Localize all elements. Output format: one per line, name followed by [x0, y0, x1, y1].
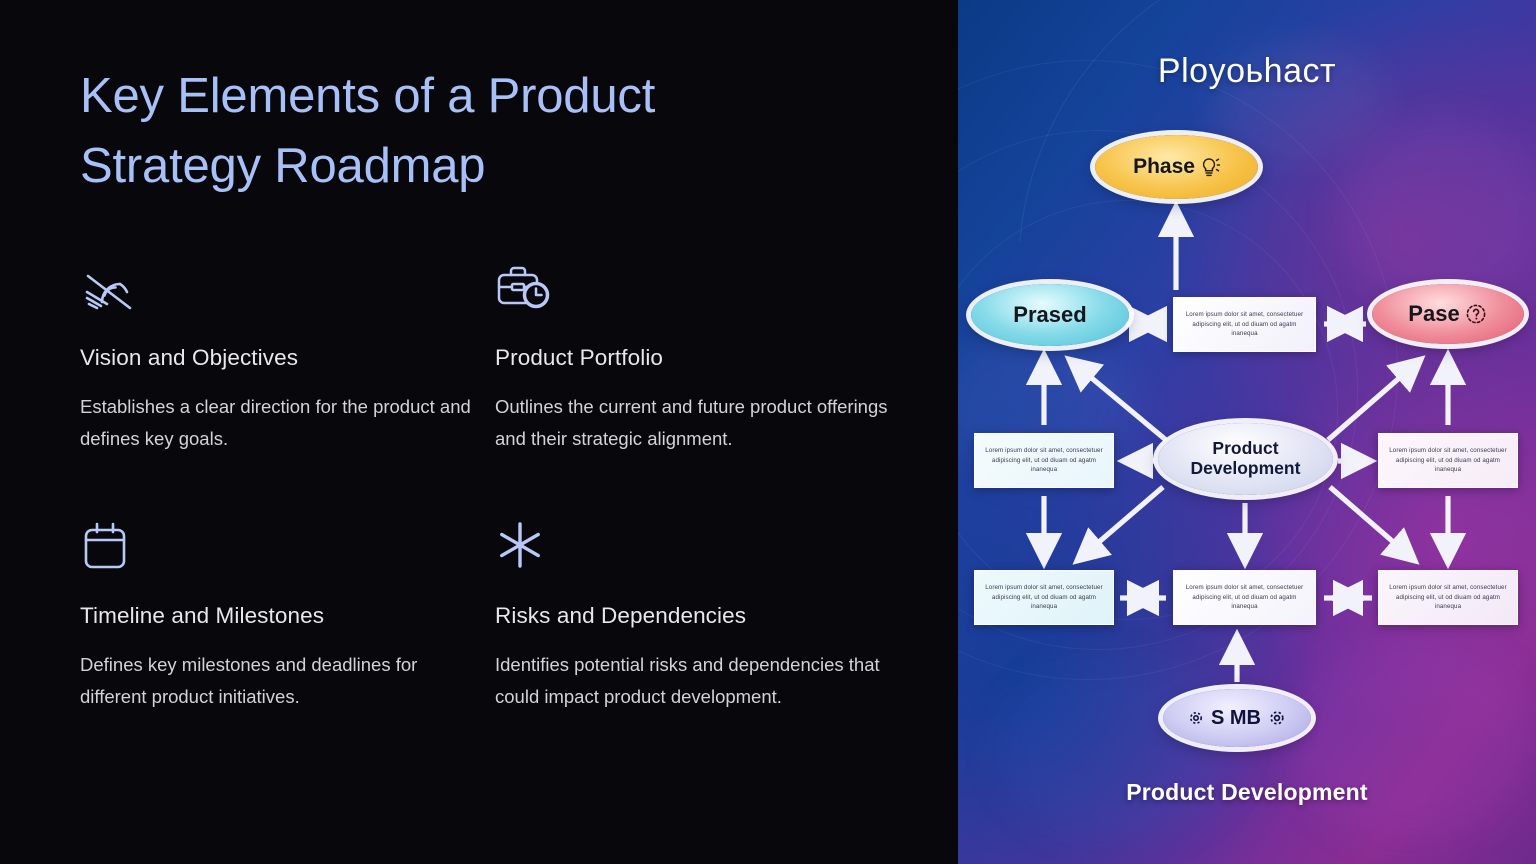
- page-title: Key Elements of a Product Strategy Roadm…: [80, 62, 840, 201]
- lorem-text: Lorem ipsum dolor sit amet, consectetuer…: [983, 583, 1105, 611]
- diagram-node-product-development: Product Development: [1158, 423, 1333, 495]
- feature-item-risks: Risks and Dependencies Identifies potent…: [495, 517, 890, 713]
- feature-description: Defines key milestones and deadlines for…: [80, 649, 475, 713]
- node-label: Phase: [1133, 155, 1195, 179]
- question-gear-icon: [1464, 302, 1488, 326]
- diagram-text-box: Lorem ipsum dolor sit amet, consectetuer…: [1378, 570, 1518, 625]
- lorem-text: Lorem ipsum dolor sit amet, consectetuer…: [1387, 446, 1509, 474]
- feature-item-timeline: Timeline and Milestones Defines key mile…: [80, 517, 475, 713]
- feature-item-portfolio: Product Portfolio Outlines the current a…: [495, 259, 890, 455]
- feature-description: Identifies potential risks and dependenc…: [495, 649, 890, 713]
- lorem-text: Lorem ipsum dolor sit amet, consectetuer…: [1387, 583, 1509, 611]
- asterisk-icon: [495, 517, 557, 575]
- diagram-text-box: Lorem ipsum dolor sit amet, consectetuer…: [1173, 570, 1316, 625]
- diagram-text-box: Lorem ipsum dolor sit amet, consectetuer…: [1378, 433, 1518, 488]
- vision-slash-icon: [80, 259, 142, 317]
- diagram-node-smb: S MB: [1163, 689, 1311, 747]
- feature-item-vision: Vision and Objectives Establishes a clea…: [80, 259, 475, 455]
- diagram-caption: Product Development: [958, 779, 1536, 806]
- lorem-text: Lorem ipsum dolor sit amet, consectetuer…: [1182, 310, 1307, 338]
- feature-description: Outlines the current and future product …: [495, 391, 890, 455]
- features-grid: Vision and Objectives Establishes a clea…: [80, 259, 958, 712]
- node-label: Pase: [1408, 302, 1459, 327]
- lorem-text: Lorem ipsum dolor sit amet, consectetuer…: [1182, 583, 1307, 611]
- diagram-heading: Ployoьhacт: [958, 52, 1536, 91]
- calendar-icon: [80, 517, 142, 575]
- node-label: Product Development: [1191, 439, 1301, 478]
- feature-title: Product Portfolio: [495, 345, 890, 371]
- node-label: Prased: [1013, 303, 1086, 328]
- left-content-panel: Key Elements of a Product Strategy Roadm…: [0, 0, 958, 864]
- slide-root: Key Elements of a Product Strategy Roadm…: [0, 0, 1536, 864]
- diagram-node-prased: Prased: [971, 284, 1129, 346]
- briefcase-clock-icon: [495, 259, 557, 317]
- feature-title: Timeline and Milestones: [80, 603, 475, 629]
- node-label: S MB: [1211, 707, 1261, 729]
- diagram-node-pase: Pase: [1372, 284, 1524, 344]
- gear-icon: [1266, 707, 1288, 729]
- gear-icon: [1186, 708, 1206, 728]
- diagram-image-panel: Ployoьhacт Phase Prased Pase: [958, 0, 1536, 864]
- diagram-text-box: Lorem ipsum dolor sit amet, consectetuer…: [974, 570, 1114, 625]
- diagram-text-box: Lorem ipsum dolor sit amet, consectetuer…: [1173, 297, 1316, 352]
- diagram-node-phase: Phase: [1095, 135, 1258, 199]
- diagram-text-box: Lorem ipsum dolor sit amet, consectetuer…: [974, 433, 1114, 488]
- feature-title: Vision and Objectives: [80, 345, 475, 371]
- feature-title: Risks and Dependencies: [495, 603, 890, 629]
- feature-description: Establishes a clear direction for the pr…: [80, 391, 475, 455]
- lightbulb-icon: [1198, 155, 1220, 179]
- lorem-text: Lorem ipsum dolor sit amet, consectetuer…: [983, 446, 1105, 474]
